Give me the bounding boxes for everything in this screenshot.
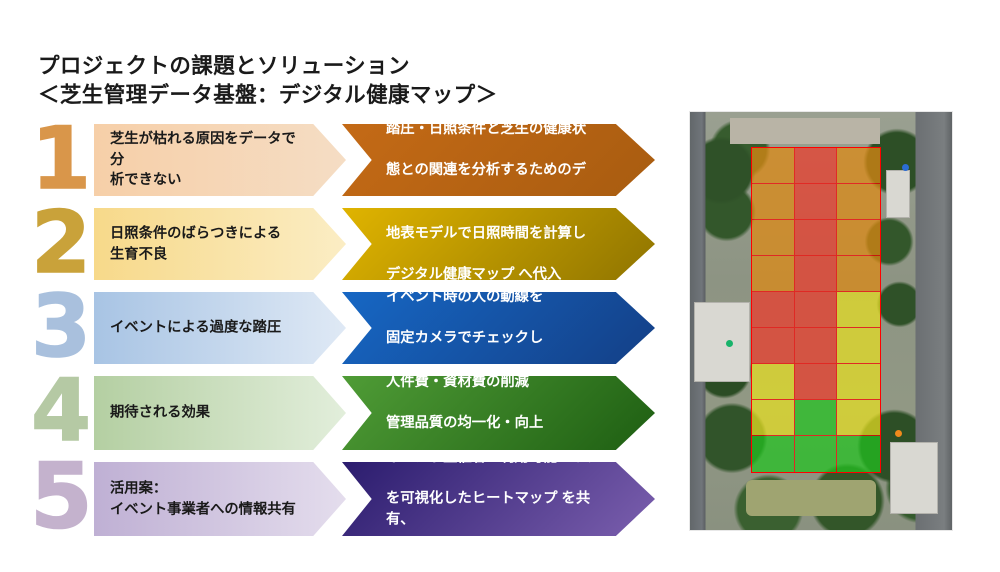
heatmap-cell[interactable]	[837, 328, 880, 364]
building-east	[890, 442, 938, 514]
solution-arrow-3[interactable]: イベント時の人の動線を 固定カメラでチェックし デジタル健康マップ へ反映	[342, 292, 655, 364]
heatmap-cell[interactable]	[752, 220, 795, 256]
solution-line-5b: を可視化した	[386, 491, 472, 507]
heatmap-grid[interactable]	[752, 148, 880, 472]
problem-arrow-5[interactable]: 活用案： イベント事業者への情報共有	[94, 462, 346, 536]
heatmap-cell[interactable]	[795, 256, 838, 292]
solution-bold-1a: デ	[572, 162, 586, 178]
heatmap-cell[interactable]	[752, 328, 795, 364]
solution-arrow-1[interactable]: 踏圧・日照条件と芝生の健康状 態との関連を分析するためのデ ジタル健康マップ を…	[342, 124, 655, 196]
heatmap-cell[interactable]	[837, 220, 880, 256]
row-2: 2 日照条件のばらつきによる 生育不良 地表モデルで日照時間を計算し デジタル健…	[0, 208, 680, 280]
solution-text-4: 人件費・資材費の削減 管理品質の均一化・向上 予防保全の実現 など	[386, 351, 607, 475]
row-5: 5 活用案： イベント事業者への情報共有 イベント主催者へ利用可能エリア を可視…	[0, 462, 680, 542]
row-number-4-label: 4	[30, 366, 92, 456]
heatmap-cell[interactable]	[795, 148, 838, 184]
row-number-2-label: 2	[30, 198, 92, 288]
heatmap-cell[interactable]	[837, 400, 880, 436]
solution-line-4a: 人件費・資材費の削減	[386, 374, 529, 390]
problem-text-3: イベントによる過度な踏圧	[110, 318, 304, 339]
problem-arrow-1[interactable]: 芝生が枯れる原因をデータで分 析できない	[94, 124, 346, 196]
solution-arrow-5[interactable]: イベント主催者へ利用可能エリア を可視化したヒートマップ を共有、 ARでも表示…	[342, 462, 655, 536]
solution-line-4b: 管理品質の均一化・向上	[386, 415, 543, 431]
map-marker-green[interactable]	[726, 340, 733, 347]
heatmap-cell[interactable]	[837, 184, 880, 220]
solution-line-3b: 固定カメラでチェックし	[386, 330, 543, 346]
solution-arrow-4[interactable]: 人件費・資材費の削減 管理品質の均一化・向上 予防保全の実現 など	[342, 376, 655, 450]
row-number-1-label: 1	[30, 114, 92, 204]
heatmap-cell[interactable]	[752, 400, 795, 436]
map-marker-blue[interactable]	[902, 164, 909, 171]
solution-text-2: 地表モデルで日照時間を計算し デジタル健康マップ へ代入	[386, 203, 607, 286]
heatmap-cell[interactable]	[837, 292, 880, 328]
solution-line-2a: 地表モデルで日照時間を計算し	[386, 225, 586, 241]
solution-text-3: イベント時の人の動線を 固定カメラでチェックし デジタル健康マップ へ反映	[386, 266, 607, 390]
solution-bold-5b: ARでも表示	[386, 553, 464, 569]
row-number-5: 5	[30, 452, 92, 544]
problem-text-4: 期待される効果	[110, 403, 304, 424]
solution-bold-2a: デジタル健康マップ	[386, 267, 514, 283]
aerial-heatmap-image[interactable]	[690, 112, 952, 530]
heatmap-cell[interactable]	[795, 328, 838, 364]
solution-rest-2: へ代入	[514, 267, 561, 283]
heatmap-cell[interactable]	[752, 256, 795, 292]
map-marker-orange[interactable]	[895, 430, 902, 437]
solution-bold-5a: ヒートマップ	[472, 491, 558, 507]
row-1: 1 芝生が枯れる原因をデータで分 析できない 踏圧・日照条件と芝生の健康状 態と…	[0, 124, 680, 196]
page-title: プロジェクトの課題とソリューション ＜芝生管理データ基盤：デジタル健康マップ＞	[38, 52, 658, 110]
problem-text-2: 日照条件のばらつきによる 生育不良	[110, 223, 304, 264]
heatmap-cell[interactable]	[795, 220, 838, 256]
row-number-3-label: 3	[30, 282, 92, 372]
heatmap-cell[interactable]	[837, 256, 880, 292]
problem-arrow-4[interactable]: 期待される効果	[94, 376, 346, 450]
problem-text-1: 芝生が枯れる原因をデータで分 析できない	[110, 129, 304, 191]
building-northeast	[886, 170, 910, 218]
heatmap-cell[interactable]	[837, 148, 880, 184]
solution-rest-5: 可能	[464, 553, 497, 569]
heatmap-cell[interactable]	[795, 292, 838, 328]
heatmap-cell[interactable]	[795, 364, 838, 400]
heatmap-cell[interactable]	[752, 148, 795, 184]
heatmap-cell[interactable]	[752, 364, 795, 400]
plaza-north	[730, 118, 880, 144]
heatmap-cell[interactable]	[752, 292, 795, 328]
building-west	[694, 302, 750, 382]
solution-line-1a: 踏圧・日照条件と芝生の健康状	[386, 121, 586, 137]
heatmap-cell[interactable]	[795, 436, 838, 472]
row-3: 3 イベントによる過度な踏圧 イベント時の人の動線を 固定カメラでチェックし デ…	[0, 292, 680, 364]
row-number-5-label: 5	[30, 452, 92, 542]
turf-south	[746, 480, 876, 516]
solution-line-5a: イベント主催者へ利用可能エリア	[386, 449, 600, 465]
heatmap-cell[interactable]	[795, 184, 838, 220]
heatmap-cell[interactable]	[837, 436, 880, 472]
row-4: 4 期待される効果 人件費・資材費の削減 管理品質の均一化・向上 予防保全の実現…	[0, 376, 680, 448]
problem-arrow-3[interactable]: イベントによる過度な踏圧	[94, 292, 346, 364]
problem-arrow-2[interactable]: 日照条件のばらつきによる 生育不良	[94, 208, 346, 280]
heatmap-cell[interactable]	[795, 400, 838, 436]
heatmap-cell[interactable]	[752, 184, 795, 220]
heatmap-cell[interactable]	[837, 364, 880, 400]
solution-line-3a: イベント時の人の動線を	[386, 289, 543, 305]
solution-arrow-2[interactable]: 地表モデルで日照時間を計算し デジタル健康マップ へ代入	[342, 208, 655, 280]
problem-text-5: 活用案： イベント事業者への情報共有	[110, 478, 304, 519]
solution-line-1b: 態との関連を分析するための	[386, 162, 572, 178]
heatmap-cell[interactable]	[752, 436, 795, 472]
solution-text-1: 踏圧・日照条件と芝生の健康状 態との関連を分析するためのデ ジタル健康マップ を…	[386, 98, 607, 222]
